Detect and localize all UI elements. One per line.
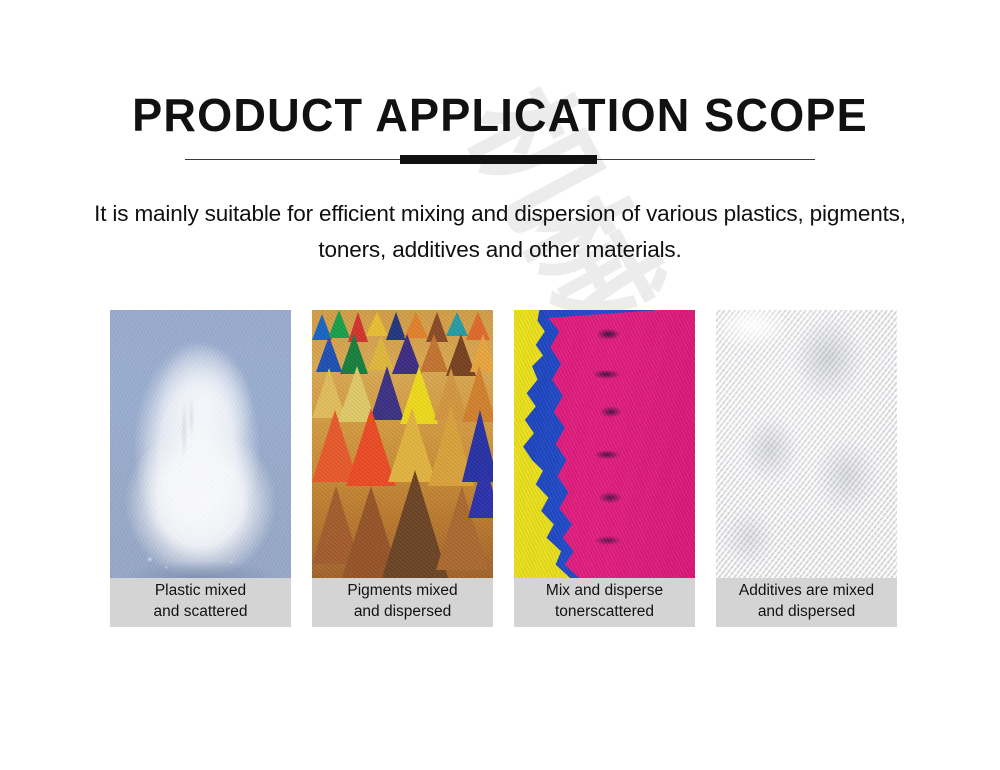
caption-plastic: Plastic mixed and scattered [110,578,291,627]
caption-line-1: Mix and disperse [546,581,663,601]
toner-powder-photo [514,310,695,578]
caption-line-2: and scattered [154,602,248,622]
product-card-additives[interactable]: Additives are mixed and dispersed [716,310,897,627]
caption-pigments: Pigments mixed and dispersed [312,578,493,627]
title-divider [185,155,815,165]
caption-line-2: and dispersed [354,602,451,622]
pigment-cone [368,336,394,370]
caption-line-1: Plastic mixed [155,581,246,601]
plastic-powder-photo [110,310,291,578]
page-subtitle: It is mainly suitable for efficient mixi… [90,196,910,269]
product-cards-row: Plastic mixed and scattered Pigments mix… [110,310,897,627]
caption-toner: Mix and disperse tonerscattered [514,578,695,627]
product-card-toner[interactable]: Mix and disperse tonerscattered [514,310,695,627]
divider-accent-bar [400,155,597,164]
page-title: PRODUCT APPLICATION SCOPE [10,92,990,138]
pigment-cone [366,312,388,336]
caption-line-2: and dispersed [758,602,855,622]
pigment-cone [468,458,493,518]
caption-line-1: Pigments mixed [347,581,457,601]
additive-powder-photo [716,310,897,578]
caption-line-2: tonerscattered [555,602,654,622]
product-card-pigments[interactable]: Pigments mixed and dispersed [312,310,493,627]
product-card-plastic[interactable]: Plastic mixed and scattered [110,310,291,627]
pigment-cone [446,312,468,336]
pigment-piles-photo [312,310,493,578]
caption-additives: Additives are mixed and dispersed [716,578,897,627]
caption-line-1: Additives are mixed [739,581,874,601]
